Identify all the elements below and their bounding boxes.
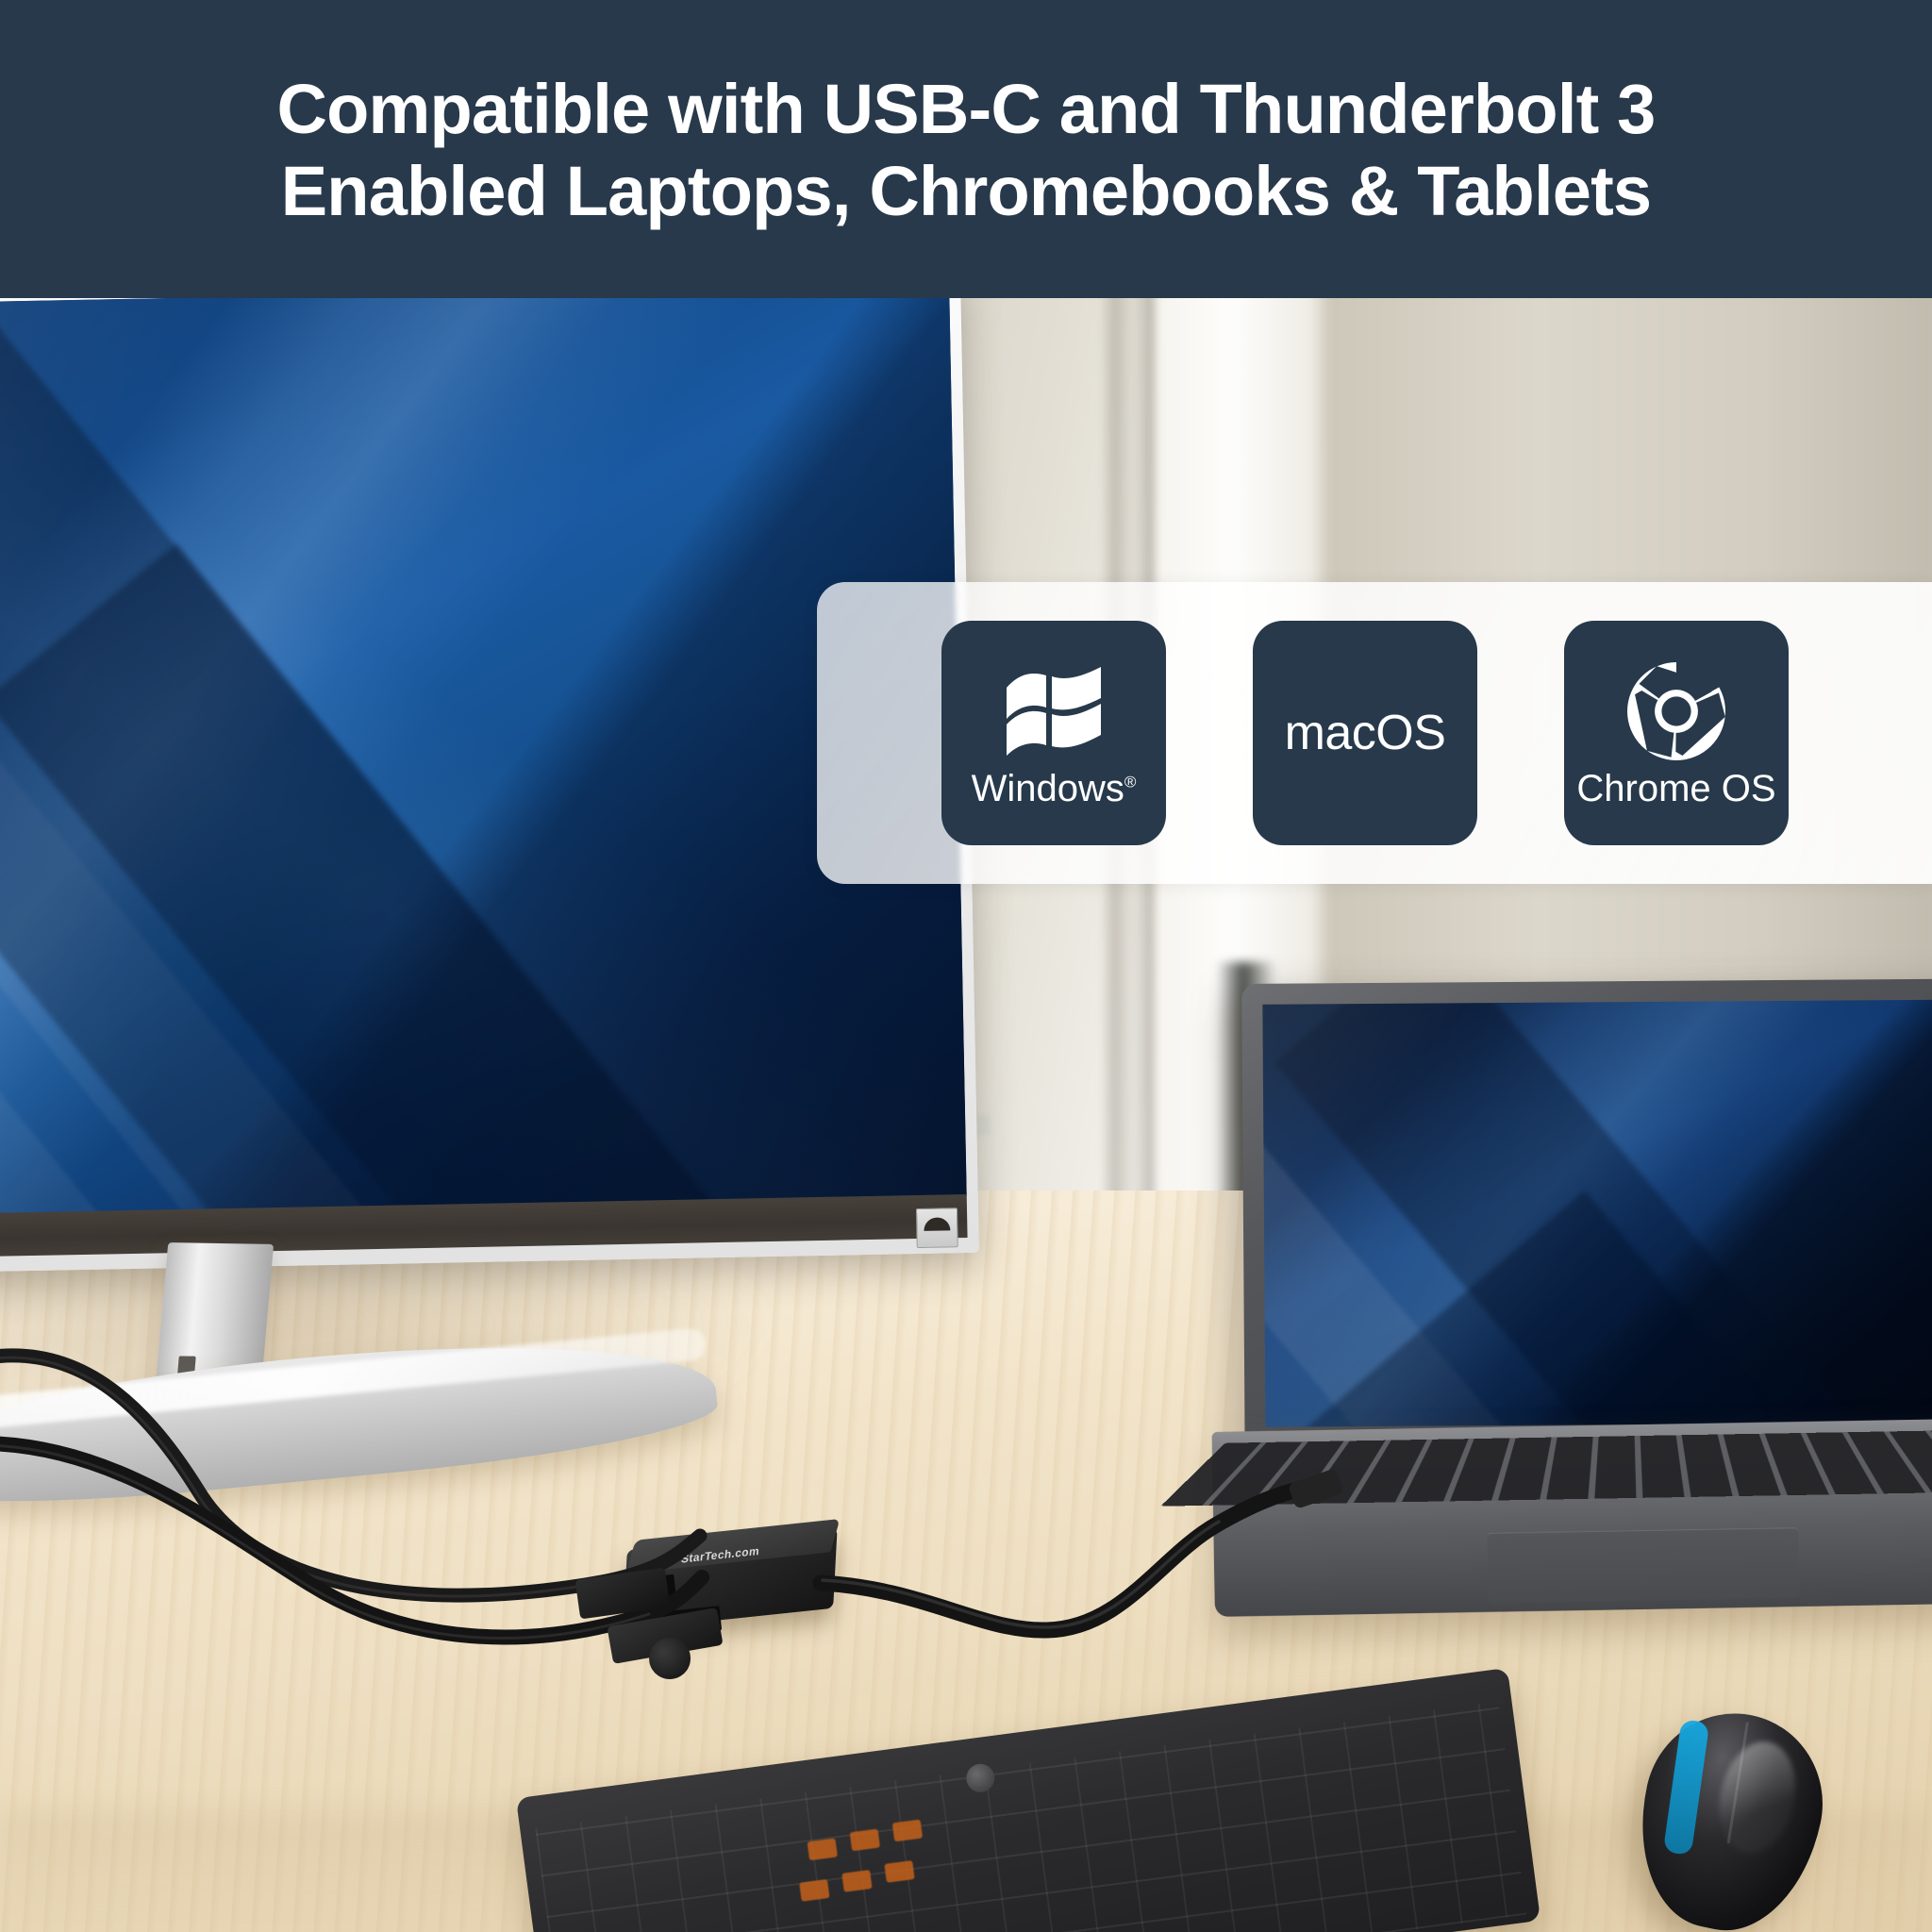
os-badge-macos[interactable]: macOS bbox=[1253, 621, 1477, 845]
header-banner: Compatible with USB-C and Thunderbolt 3 … bbox=[0, 0, 1932, 298]
os-badge-label-macos: macOS bbox=[1285, 708, 1446, 758]
monitor-cables bbox=[0, 1302, 943, 1698]
os-compatibility-panel: Windows® macOS bbox=[817, 582, 1932, 884]
monitor-energy-badge bbox=[916, 1207, 958, 1248]
laptop-trackpad bbox=[1487, 1527, 1799, 1604]
keyboard-accent-key-3 bbox=[892, 1820, 923, 1842]
chrome-logo-icon bbox=[1627, 658, 1725, 764]
usb-c-cable-to-laptop bbox=[811, 1472, 1396, 1717]
header-title-line-1: Compatible with USB-C and Thunderbolt 3 bbox=[276, 69, 1655, 151]
windows-flag-icon bbox=[1003, 658, 1105, 764]
keyboard-accent-key-2 bbox=[850, 1829, 880, 1852]
os-badge-windows[interactable]: Windows® bbox=[941, 621, 1166, 845]
keyboard-accent-key-6 bbox=[884, 1860, 914, 1883]
laptop-lid bbox=[1241, 978, 1932, 1446]
laptop-screen bbox=[1262, 999, 1932, 1427]
keyboard-accent-key-1 bbox=[808, 1839, 838, 1861]
os-badge-chromeos[interactable]: Chrome OS bbox=[1564, 621, 1789, 845]
marketing-image-stage: StarTech.com bbox=[0, 0, 1932, 1932]
laptop-wallpaper bbox=[1262, 999, 1932, 1427]
header-title-line-2: Enabled Laptops, Chromebooks & Tablets bbox=[281, 151, 1652, 233]
keyboard-accent-key-5 bbox=[841, 1870, 872, 1892]
laptop-macbook bbox=[1241, 978, 1932, 1474]
keyboard-accent-key-4 bbox=[799, 1879, 829, 1902]
os-badge-label-windows: Windows® bbox=[972, 770, 1137, 808]
os-badge-row: Windows® macOS bbox=[941, 621, 1789, 845]
os-badge-label-chromeos: Chrome OS bbox=[1576, 770, 1775, 808]
